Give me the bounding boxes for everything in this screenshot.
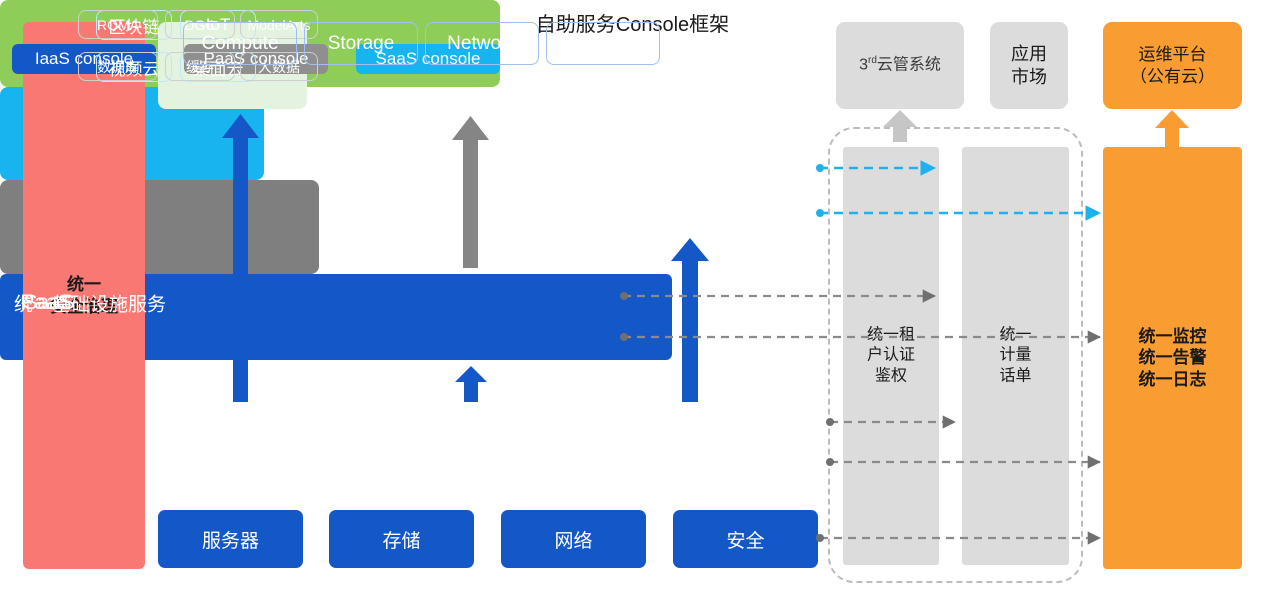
auth-line3: 鉴权 (843, 366, 939, 386)
app-market-line2: 市场 (1011, 66, 1047, 89)
ops-monitoring-column: 统一监控 统一告警 统一日志 (1103, 147, 1242, 569)
ops-platform-box: 运维平台 （公有云） (1103, 22, 1242, 109)
ops-column-line3: 统一日志 (1139, 369, 1207, 390)
arrow-to-ops-platform (1155, 110, 1189, 147)
unified-infrastructure-label: 统一基础设施服务 (14, 289, 166, 316)
arrow-paas-to-console (452, 116, 489, 268)
arrow-infra-to-paas (455, 366, 487, 402)
infra-chip-storage[interactable]: Storage (304, 22, 418, 65)
ops-platform-line2: （公有云） (1130, 66, 1215, 87)
infra-chip-cce[interactable]: CCE (546, 22, 660, 65)
arrow-infra-to-saas (671, 238, 709, 402)
paas-chip-roma[interactable]: ROMA (78, 10, 158, 39)
auth-line1: 统一租 (843, 325, 939, 345)
third-party-cloud-management-box: 3rd云管系统 (836, 22, 964, 109)
hardware-box-storage[interactable]: 存储 (329, 510, 474, 568)
hardware-box-network[interactable]: 网络 (501, 510, 646, 568)
auth-line2: 户认证 (843, 346, 939, 366)
third-party-ordinal-sup: rd (868, 55, 877, 66)
app-market-box: 应用 市场 (990, 22, 1068, 109)
billing-line1: 统一 (962, 325, 1069, 345)
architecture-diagram: 统一 安全治理 API网关 自助服务Console框架 IaaS console… (0, 0, 1265, 605)
billing-line3: 话单 (962, 366, 1069, 386)
infra-chip-compute[interactable]: Compute (183, 22, 297, 65)
ops-column-line1: 统一监控 (1139, 326, 1207, 347)
ops-column-line2: 统一告警 (1139, 347, 1207, 368)
infra-chip-network[interactable]: Network (425, 22, 539, 65)
hardware-box-security[interactable]: 安全 (673, 510, 818, 568)
third-party-cloud-label: 3rd云管系统 (859, 55, 941, 75)
third-party-prefix: 3 (859, 57, 868, 74)
app-market-line1: 应用 (1011, 43, 1047, 66)
paas-chip-database[interactable]: 数据库 (78, 52, 158, 81)
unified-billing-column: 统一 计量 话单 (962, 147, 1069, 565)
ops-platform-line1: 运维平台 (1130, 44, 1215, 65)
billing-line2: 计量 (962, 346, 1069, 366)
hardware-box-server[interactable]: 服务器 (158, 510, 303, 568)
third-party-suffix: 云管系统 (877, 57, 941, 74)
unified-tenant-auth-column: 统一租 户认证 鉴权 (843, 147, 939, 565)
